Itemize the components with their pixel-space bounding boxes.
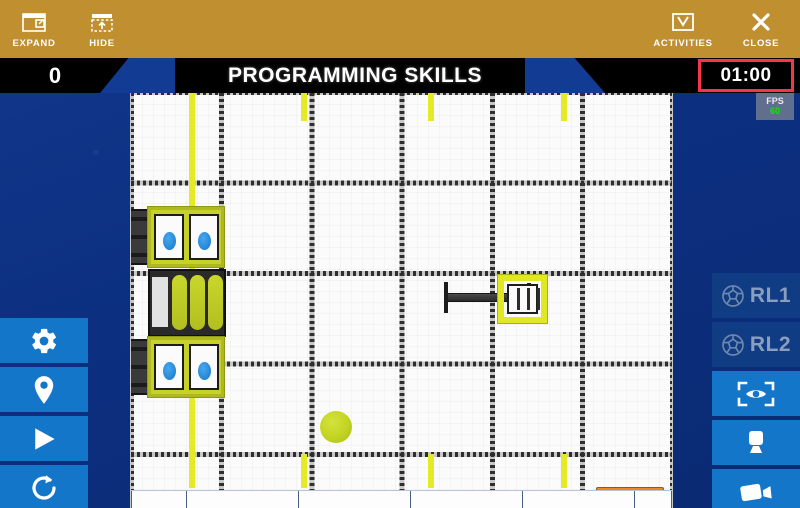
toolbar-right-group: ACTIVITIES CLOSE bbox=[644, 0, 800, 54]
left-control-panel bbox=[0, 318, 88, 508]
field-beam-cap bbox=[444, 282, 448, 313]
hide-button-label: HIDE bbox=[89, 38, 115, 49]
field-tick-top bbox=[428, 93, 434, 121]
field-tick-bottom bbox=[561, 454, 567, 488]
page-title: PROGRAMMING SKILLS bbox=[170, 58, 540, 93]
eye-focus-icon bbox=[736, 380, 776, 408]
close-button[interactable]: CLOSE bbox=[722, 0, 800, 54]
field-tick-top bbox=[301, 93, 307, 121]
header-accent-left bbox=[100, 58, 175, 93]
hide-button[interactable]: HIDE bbox=[68, 0, 136, 54]
right-control-panel: RL1 RL2 bbox=[712, 273, 800, 508]
field-ball bbox=[320, 411, 352, 443]
play-icon bbox=[29, 424, 59, 454]
field-tick-top bbox=[561, 93, 567, 121]
fps-value: 60 bbox=[770, 107, 780, 116]
field-station-bottom bbox=[148, 337, 224, 397]
close-x-icon bbox=[751, 11, 771, 33]
activities-button[interactable]: ACTIVITIES bbox=[644, 0, 722, 54]
score-display: 0 bbox=[0, 58, 110, 93]
play-button[interactable] bbox=[0, 416, 88, 461]
simulation-field[interactable] bbox=[131, 93, 672, 508]
fps-label: FPS bbox=[766, 97, 784, 106]
ball-icon bbox=[721, 284, 745, 308]
ball-icon bbox=[721, 333, 745, 357]
field-goal bbox=[498, 275, 547, 323]
robot-view-button[interactable] bbox=[712, 420, 800, 465]
robot-monitor-icon bbox=[741, 428, 771, 458]
match-timer: 01:00 bbox=[698, 59, 794, 92]
field-station-top bbox=[148, 207, 224, 267]
close-button-label: CLOSE bbox=[743, 38, 779, 49]
expand-button[interactable]: EXPAND bbox=[0, 0, 68, 54]
field-tick-bottom bbox=[301, 454, 307, 488]
gear-icon bbox=[29, 326, 59, 356]
rl1-button[interactable]: RL1 bbox=[712, 273, 800, 318]
settings-button[interactable] bbox=[0, 318, 88, 363]
rl2-button[interactable]: RL2 bbox=[712, 322, 800, 367]
rl1-label: RL1 bbox=[750, 284, 791, 308]
expand-window-icon bbox=[22, 11, 46, 33]
rl2-label: RL2 bbox=[750, 333, 791, 357]
camera-view-button[interactable] bbox=[712, 469, 800, 508]
reset-refresh-icon bbox=[29, 473, 59, 503]
expand-button-label: EXPAND bbox=[12, 38, 55, 49]
fps-indicator: FPS 60 bbox=[756, 92, 794, 120]
camera-icon bbox=[739, 479, 773, 505]
field-tick-bottom bbox=[428, 454, 434, 488]
field-ball-rack bbox=[148, 269, 226, 337]
activities-checkbox-icon bbox=[671, 11, 695, 33]
position-button[interactable] bbox=[0, 367, 88, 412]
hide-panel-icon bbox=[91, 11, 113, 33]
header-bar: 0 PROGRAMMING SKILLS 01:00 bbox=[0, 58, 800, 93]
field-bottom-rail bbox=[131, 490, 672, 508]
field-view-button[interactable] bbox=[712, 371, 800, 416]
reset-button[interactable] bbox=[0, 465, 88, 508]
location-pin-icon bbox=[30, 375, 58, 405]
top-toolbar: EXPAND HIDE ACTIVITIES bbox=[0, 0, 800, 58]
activities-button-label: ACTIVITIES bbox=[653, 38, 712, 49]
